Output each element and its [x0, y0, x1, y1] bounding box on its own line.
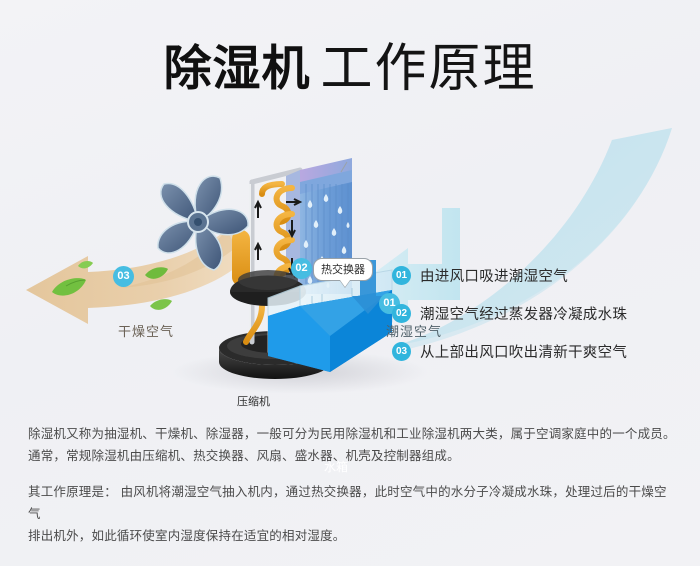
step-badge-03: 03	[392, 342, 411, 361]
label-dry-air: 干燥空气	[118, 321, 174, 340]
step-item-03: 03 从上部出风口吹出清新干爽空气	[392, 332, 692, 370]
badge-02-heat-exchanger: 02	[291, 258, 312, 279]
step-label-02: 潮湿空气经过蒸发器冷凝成水珠	[420, 303, 627, 324]
badge-03-dry-air: 03	[113, 266, 134, 287]
description-p1-line1: 除湿机又称为抽湿机、干燥机、除湿器，一般可分为民用除湿机和工业除湿机两大类，属于…	[28, 423, 676, 445]
page-title: 除湿机工作原理	[0, 26, 700, 101]
title-part-1: 除湿机	[163, 43, 310, 96]
step-item-01: 01 由进风口吸进潮湿空气	[392, 256, 692, 294]
label-compressor: 压缩机	[237, 393, 270, 409]
title-part-2: 工作原理	[321, 40, 537, 98]
step-item-02: 02 潮湿空气经过蒸发器冷凝成水珠	[392, 294, 692, 332]
step-label-01: 由进风口吸进潮湿空气	[420, 265, 568, 286]
description-paragraph-1: 除湿机又称为抽湿机、干燥机、除湿器，一般可分为民用除湿机和工业除湿机两大类，属于…	[28, 423, 676, 467]
description-p2-line2: 排出机外，如此循环使室内湿度保持在适宜的相对湿度。	[28, 525, 676, 547]
step-label-03: 从上部出风口吹出清新干爽空气	[420, 341, 627, 362]
description-p2-line1: 其工作原理是： 由风机将潮湿空气抽入机内，通过热交换器，此时空气中的水分子冷凝成…	[28, 481, 676, 525]
step-badge-02: 02	[392, 304, 411, 323]
label-heat-exchanger: 热交换器	[313, 258, 373, 281]
infographic-page: 除湿机工作原理	[0, 0, 700, 566]
step-badge-01: 01	[392, 266, 411, 285]
steps-legend: 01 由进风口吸进潮湿空气 02 潮湿空气经过蒸发器冷凝成水珠 03 从上部出风…	[392, 256, 692, 370]
description-paragraph-2: 其工作原理是： 由风机将潮湿空气抽入机内，通过热交换器，此时空气中的水分子冷凝成…	[28, 481, 676, 547]
description-p1-line2: 通常，常规除湿机由压缩机、热交换器、风扇、盛水器、机壳及控制器组成。	[28, 445, 676, 467]
